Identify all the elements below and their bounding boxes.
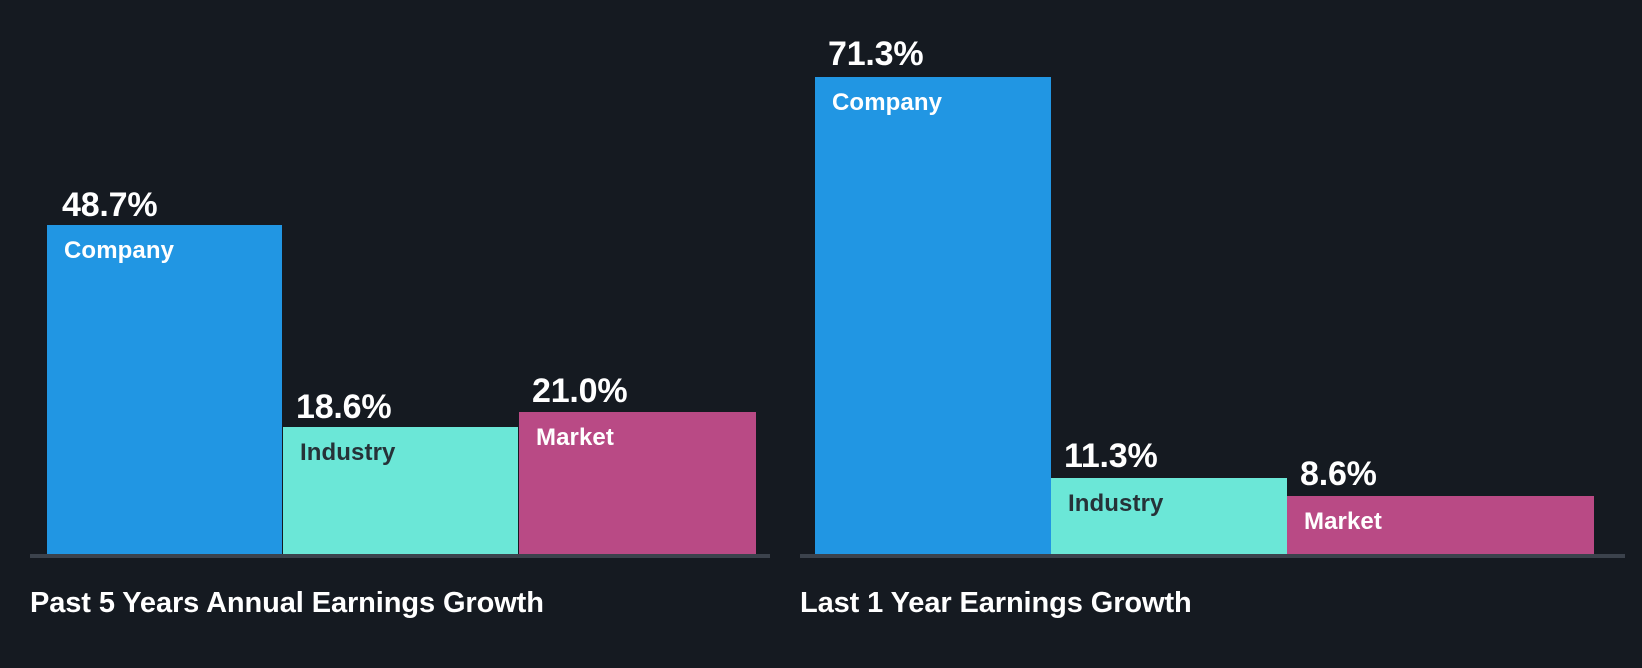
bar-category-label-market: Market bbox=[1304, 508, 1382, 536]
value-label-industry: 18.6% bbox=[296, 388, 391, 427]
bar-industry[interactable]: Industry bbox=[1051, 478, 1287, 554]
bar-company[interactable]: Company bbox=[47, 225, 282, 554]
bar-category-label-industry: Industry bbox=[1068, 490, 1163, 518]
chart-panel-past-5-years: 48.7% Company 18.6% Industry 21.0% Marke… bbox=[0, 0, 790, 668]
chart-title-past-5-years: Past 5 Years Annual Earnings Growth bbox=[30, 587, 544, 620]
baseline-axis-past-5-years bbox=[30, 554, 770, 558]
chart-title-last-1-year: Last 1 Year Earnings Growth bbox=[800, 587, 1192, 620]
bar-category-label-company: Company bbox=[64, 237, 174, 265]
bar-market[interactable]: Market bbox=[1287, 496, 1594, 554]
earnings-growth-comparison: 48.7% Company 18.6% Industry 21.0% Marke… bbox=[0, 0, 1642, 668]
value-label-industry: 11.3% bbox=[1064, 437, 1158, 476]
plot-area-last-1-year: 71.3% Company 11.3% Industry 8.6% Market bbox=[790, 0, 1642, 558]
bar-company[interactable]: Company bbox=[815, 77, 1051, 554]
chart-panel-last-1-year: 71.3% Company 11.3% Industry 8.6% Market… bbox=[790, 0, 1642, 668]
value-label-company: 71.3% bbox=[828, 35, 923, 74]
bar-market[interactable]: Market bbox=[519, 412, 756, 554]
bar-industry[interactable]: Industry bbox=[283, 427, 518, 554]
bar-category-label-market: Market bbox=[536, 424, 614, 452]
value-label-market: 8.6% bbox=[1300, 455, 1377, 494]
plot-area-past-5-years: 48.7% Company 18.6% Industry 21.0% Marke… bbox=[0, 0, 790, 558]
bar-category-label-industry: Industry bbox=[300, 439, 395, 467]
baseline-axis-last-1-year bbox=[800, 554, 1625, 558]
value-label-market: 21.0% bbox=[532, 372, 627, 411]
bar-category-label-company: Company bbox=[832, 89, 942, 117]
value-label-company: 48.7% bbox=[62, 186, 157, 225]
